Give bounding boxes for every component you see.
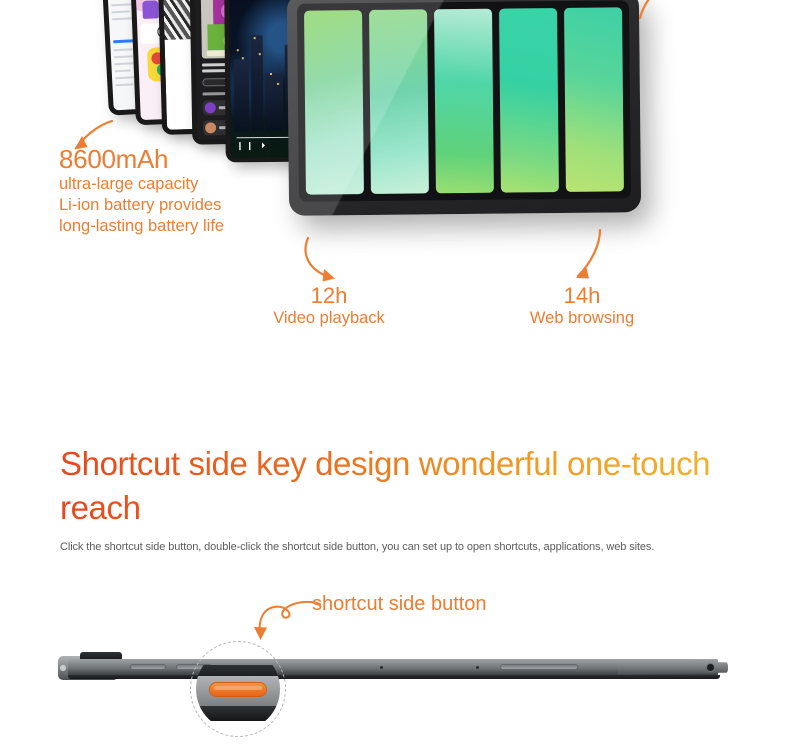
hand-illustration bbox=[142, 0, 159, 19]
list-line bbox=[115, 69, 131, 72]
screen-panel-3 bbox=[434, 9, 494, 194]
web-browsing-value: 14h bbox=[520, 283, 644, 308]
video-playback-value: 12h bbox=[262, 283, 396, 308]
battery-capacity-line-3: long-lasting battery life bbox=[59, 216, 224, 237]
shortcut-side-button-label: shortcut side button bbox=[312, 592, 487, 616]
battery-capacity-line-2: Li-ion battery provides bbox=[59, 195, 224, 216]
microphone-hole-icon bbox=[380, 666, 383, 669]
web-browsing-callout: 14h Web browsing bbox=[520, 283, 644, 328]
video-playback-controls[interactable]: ❙❙ ⏵ bbox=[237, 141, 269, 151]
avatar bbox=[205, 122, 216, 133]
arrow-to-web-browsing-callout bbox=[564, 228, 616, 286]
building bbox=[234, 59, 250, 131]
list-line bbox=[114, 55, 133, 58]
video-playback-callout: 12h Video playback bbox=[262, 283, 396, 328]
screen-panel-2 bbox=[369, 9, 429, 194]
window-light bbox=[259, 53, 261, 55]
hero-tablet-device bbox=[287, 0, 641, 216]
microphone-hole-icon bbox=[476, 666, 479, 669]
shortcut-key-feature-section: Shortcut side key design wonderful one-t… bbox=[0, 400, 790, 756]
device-bottom-edge bbox=[68, 675, 720, 679]
avatar bbox=[205, 102, 216, 113]
screen-panel-5 bbox=[564, 7, 624, 192]
window-light bbox=[277, 83, 279, 85]
web-browsing-caption: Web browsing bbox=[520, 308, 644, 328]
battery-capacity-value: 8600mAh bbox=[59, 144, 224, 174]
screen-panel-4 bbox=[499, 8, 559, 193]
list-line bbox=[112, 10, 130, 13]
building bbox=[251, 35, 264, 131]
window-light bbox=[237, 49, 239, 51]
speaker-slot bbox=[130, 664, 166, 670]
list-line bbox=[115, 76, 136, 79]
antenna-band-slot bbox=[500, 664, 578, 670]
battery-feature-section: Play bbox=[0, 0, 790, 400]
product-feature-page: Play bbox=[0, 0, 790, 756]
video-playback-caption: Video playback bbox=[262, 308, 396, 328]
battery-capacity-callout: 8600mAh ultra-large capacity Li-ion batt… bbox=[59, 144, 224, 237]
shortcut-section-description: Click the shortcut side button, double-c… bbox=[60, 539, 740, 555]
arrow-top-right-partial bbox=[636, 0, 696, 22]
hero-tablet-screen bbox=[297, 0, 631, 201]
window-light bbox=[242, 57, 244, 59]
window-light bbox=[254, 37, 256, 39]
headphone-jack-icon bbox=[706, 663, 715, 672]
arrow-to-video-playback-callout bbox=[300, 236, 370, 288]
magnifier-circle-outline bbox=[190, 641, 286, 737]
window-light bbox=[270, 73, 272, 75]
lens-highlight-icon bbox=[60, 665, 66, 671]
list-line bbox=[115, 83, 133, 86]
list-line bbox=[112, 17, 134, 20]
building bbox=[265, 73, 284, 131]
battery-capacity-line-1: ultra-large capacity bbox=[59, 174, 224, 195]
tablet-side-profile-device bbox=[58, 645, 738, 693]
shortcut-section-heading: Shortcut side key design wonderful one-t… bbox=[60, 442, 720, 530]
screen-panel-1 bbox=[304, 10, 364, 195]
